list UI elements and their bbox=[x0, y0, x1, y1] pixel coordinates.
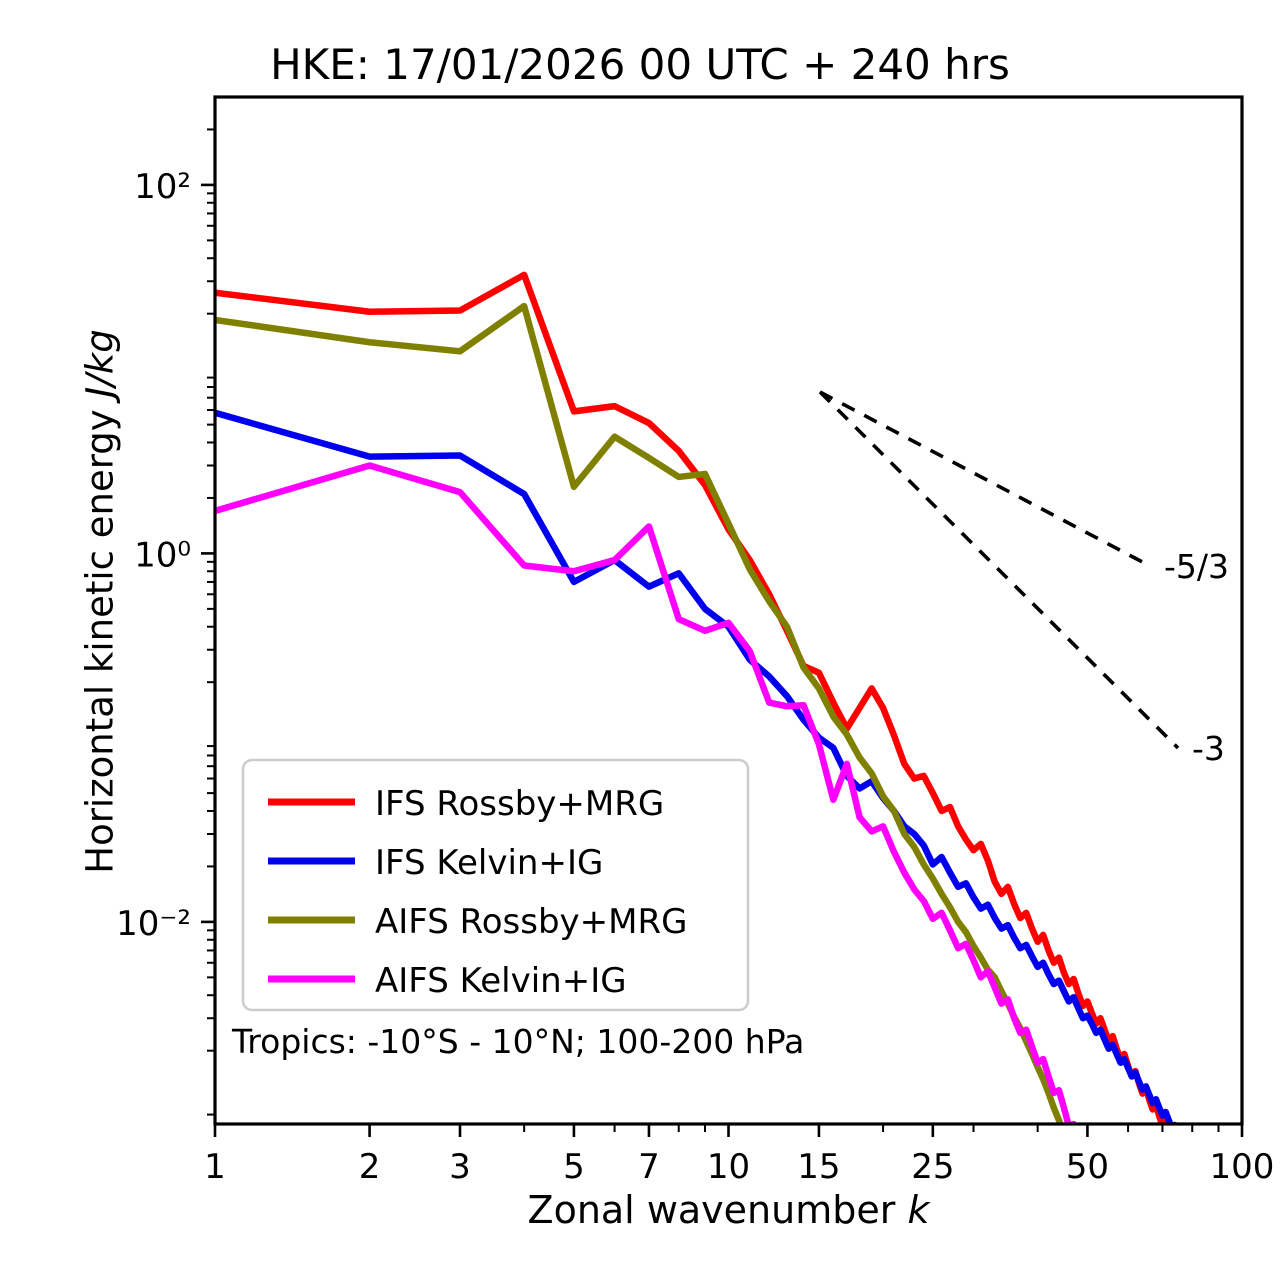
reference-slope-line--5-3 bbox=[820, 392, 1150, 566]
x-tick-label-5: 5 bbox=[563, 1147, 585, 1187]
x-tick-label-50: 50 bbox=[1066, 1147, 1109, 1187]
reference-slope-label--3: -3 bbox=[1192, 729, 1225, 768]
legend-label-1: IFS Kelvin+IG bbox=[375, 843, 603, 883]
y-tick-label-1e0: 10⁰ bbox=[134, 535, 191, 575]
x-tick-label-3: 3 bbox=[449, 1147, 471, 1187]
x-tick-label-7: 7 bbox=[638, 1147, 660, 1187]
x-tick-label-1: 1 bbox=[204, 1147, 226, 1187]
figure: HKE: 17/01/2026 00 UTC + 240 hrs Horizon… bbox=[0, 0, 1280, 1288]
y-tick-label-1e-2: 10⁻² bbox=[116, 904, 191, 944]
y-tick-label-1e2: 10² bbox=[134, 167, 191, 207]
legend-label-2: AIFS Rossby+MRG bbox=[375, 902, 687, 942]
x-tick-label-100: 100 bbox=[1210, 1147, 1275, 1187]
chart-canvas: -5/3-3 123571015255010010²10⁰10⁻² IFS Ro… bbox=[0, 0, 1280, 1288]
reference-slope-label--5-3: -5/3 bbox=[1164, 547, 1229, 586]
x-tick-label-25: 25 bbox=[911, 1147, 954, 1187]
legend: IFS Rossby+MRGIFS Kelvin+IGAIFS Rossby+M… bbox=[243, 760, 748, 1010]
legend-label-3: AIFS Kelvin+IG bbox=[375, 961, 627, 1001]
x-tick-label-15: 15 bbox=[797, 1147, 840, 1187]
legend-label-0: IFS Rossby+MRG bbox=[375, 784, 664, 824]
x-tick-label-10: 10 bbox=[707, 1147, 750, 1187]
x-tick-label-2: 2 bbox=[359, 1147, 381, 1187]
region-annotation: Tropics: -10°S - 10°N; 100-200 hPa bbox=[231, 1022, 804, 1061]
